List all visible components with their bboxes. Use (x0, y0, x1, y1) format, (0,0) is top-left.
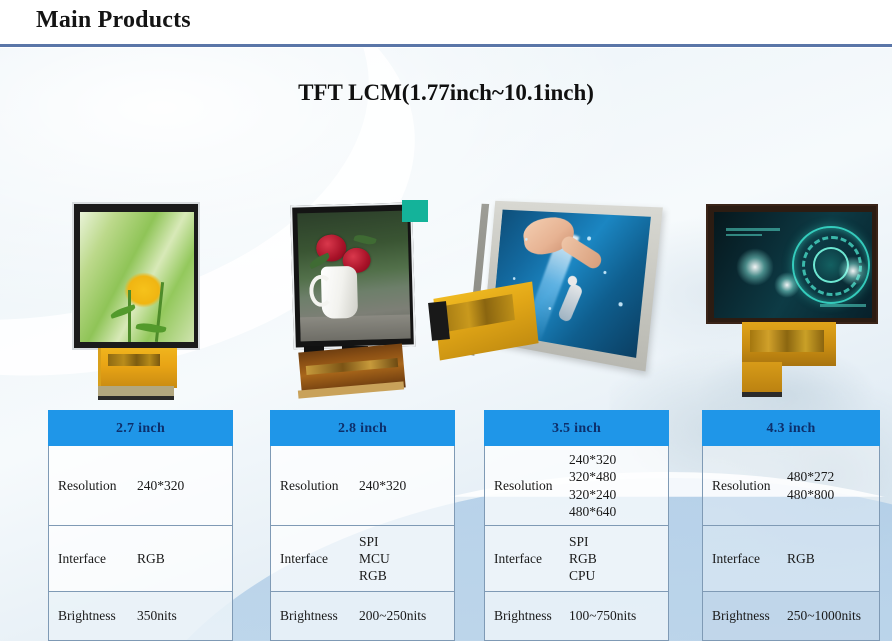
spec-table-4-3-inch: 4.3 inch Resolution 480*272 480*800 Inte… (702, 410, 880, 641)
leaf-icon (353, 233, 376, 247)
spec-table-body: Resolution 240*320 320*480 320*240 480*6… (484, 446, 669, 641)
leaf-icon (135, 321, 166, 335)
table-row: Resolution 240*320 320*480 320*240 480*6… (485, 446, 668, 526)
table-row: Brightness 350nits (49, 592, 232, 640)
spec-value: 240*320 (133, 477, 232, 494)
spec-key: Interface (485, 551, 565, 567)
spec-value: 480*272 480*800 (783, 468, 879, 503)
table-row: Interface SPI RGB CPU (485, 526, 668, 592)
spec-key: Brightness (703, 608, 783, 624)
spec-value: 250~1000nits (783, 607, 879, 624)
spec-key: Resolution (703, 478, 783, 494)
flex-cable-connector (428, 301, 450, 341)
table-row: Interface SPI MCU RGB (271, 526, 454, 592)
spec-key: Resolution (271, 478, 355, 494)
lens-flare-icon (774, 272, 800, 298)
lens-flare-icon (838, 256, 868, 286)
spec-key: Brightness (485, 608, 565, 624)
lcd-screen-roses-image (297, 211, 410, 342)
sunflower-stem-icon (155, 282, 164, 342)
spec-value: 350nits (133, 607, 232, 624)
flex-cable-tail (742, 362, 782, 396)
lcd-screen-sunflower-image (80, 212, 194, 342)
spec-key: Interface (49, 551, 133, 567)
spec-table-body: Resolution 480*272 480*800 Interface RGB… (702, 446, 880, 641)
spec-table-body: Resolution 240*320 Interface SPI MCU RGB… (270, 446, 455, 641)
spec-table-3-5-inch: 3.5 inch Resolution 240*320 320*480 320*… (484, 410, 669, 641)
spec-key: Resolution (49, 478, 133, 494)
sparkle-icon (513, 277, 516, 280)
slide-page: Main Products TFT LCM(1.77inch~10.1inch) (0, 0, 892, 641)
spec-table-body: Resolution 240*320 Interface RGB Brightn… (48, 446, 233, 641)
page-header: Main Products (0, 0, 892, 46)
table-row: Interface RGB (49, 526, 232, 592)
spec-value: RGB (133, 550, 232, 567)
slide-body: TFT LCM(1.77inch~10.1inch) (0, 48, 892, 641)
table-row: Interface RGB (703, 526, 879, 592)
spec-table-2-8-inch: 2.8 inch Resolution 240*320 Interface SP… (270, 410, 455, 641)
figure-icon (557, 283, 583, 324)
spec-key: Resolution (485, 478, 565, 494)
product-image-2-7-inch (72, 202, 200, 400)
table-row: Brightness 250~1000nits (703, 592, 879, 640)
product-image-3-5-inch (430, 198, 670, 398)
lcd-bezel (72, 202, 200, 350)
table-row: Brightness 100~750nits (485, 592, 668, 640)
spec-table-2-7-inch: 2.7 inch Resolution 240*320 Interface RG… (48, 410, 233, 641)
spec-value: 200~250nits (355, 607, 454, 624)
flex-cable-connector (742, 392, 782, 397)
hud-bar-icon (820, 304, 866, 307)
hud-bar-icon (726, 228, 780, 231)
sparkle-icon (618, 302, 623, 307)
table-row: Resolution 480*272 480*800 (703, 446, 879, 526)
hud-bar-icon (726, 234, 762, 236)
spec-value: SPI MCU RGB (355, 533, 454, 585)
product-image-2-8-inch (286, 200, 432, 400)
spec-key: Brightness (49, 608, 133, 624)
spec-key: Brightness (271, 608, 355, 624)
spec-table-header: 4.3 inch (702, 410, 880, 446)
lcd-screen-hud-image (714, 212, 872, 318)
sparkle-icon (603, 271, 606, 274)
flex-cable-connector (98, 396, 174, 400)
wood-table-icon (300, 315, 411, 342)
leaf-icon (110, 304, 137, 319)
flex-cable-traces (108, 354, 160, 366)
spec-table-header: 3.5 inch (484, 410, 669, 446)
page-title: Main Products (36, 7, 191, 34)
spec-key: Interface (703, 551, 783, 567)
slide-title: TFT LCM(1.77inch~10.1inch) (0, 80, 892, 106)
product-image-4-3-inch (706, 204, 878, 400)
spec-value: 100~750nits (565, 607, 668, 624)
protective-tab (402, 200, 428, 222)
spec-value: RGB (783, 550, 879, 567)
sparkle-icon (587, 236, 591, 240)
flex-cable-traces (750, 330, 824, 352)
lens-flare-icon (736, 248, 774, 286)
lcd-bezel (706, 204, 878, 324)
table-row: Resolution 240*320 (49, 446, 232, 526)
table-row: Brightness 200~250nits (271, 592, 454, 640)
spec-value: 240*320 320*480 320*240 480*640 (565, 451, 668, 520)
spec-table-header: 2.8 inch (270, 410, 455, 446)
table-row: Resolution 240*320 (271, 446, 454, 526)
spec-value: 240*320 (355, 477, 454, 494)
lcd-bezel (290, 202, 416, 349)
spec-table-header: 2.7 inch (48, 410, 233, 446)
spec-key: Interface (271, 551, 355, 567)
sunflower-stem-icon (128, 290, 131, 342)
spec-value: SPI RGB CPU (565, 533, 668, 585)
